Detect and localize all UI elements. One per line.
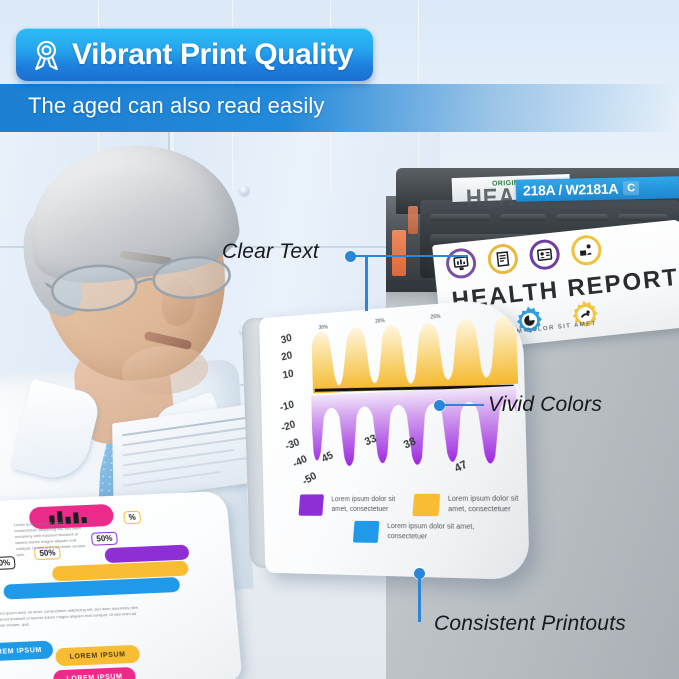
chart-y-tick: -50	[301, 470, 319, 488]
infographic-body-text: Lorem ipsum dolor sit amet, consectetuer…	[0, 605, 143, 629]
health-report-icon-row	[445, 234, 603, 280]
annotation-leader-clear-text	[350, 255, 468, 258]
annotation-vivid-colors: Vivid Colors	[488, 393, 602, 417]
legend-item: Lorem ipsum dolor sit amet, consectetuer…	[299, 493, 519, 516]
header-subtitle: The aged can also read easily	[28, 93, 324, 119]
legend-swatch	[412, 494, 440, 516]
id-card-icon	[528, 238, 561, 271]
percent-badge-callout: %	[123, 511, 141, 525]
cartridge-orange-tab	[392, 230, 406, 276]
chart-printout: 30% 20% 25% 30 20 10 -10 -20 -30 -40 -50	[259, 297, 530, 580]
legend-label: Lorem ipsum dolor sit amet, consectetuer	[387, 522, 481, 544]
infographic-pill: LOREM IPSUM	[53, 667, 137, 679]
chart-y-tick: -10	[279, 399, 295, 414]
cartridge-color-code: C	[623, 181, 639, 195]
infographic-pill: LOREM IPSUM	[55, 645, 141, 667]
legend-label: Lorem ipsum dolor sit amet, consectetuer	[448, 494, 520, 515]
infographic-pill: LOREM IPSUM	[0, 640, 54, 661]
chart-series-upper	[311, 310, 518, 394]
award-rosette-icon	[32, 40, 61, 70]
chart-y-tick: 10	[282, 368, 295, 382]
chart-y-tick: -30	[284, 436, 301, 452]
chart-y-tick: -20	[280, 419, 297, 435]
percent-badge: 50%	[0, 556, 16, 570]
legend-swatch	[353, 521, 380, 543]
cartridge-model-text: 218A / W2181A	[523, 181, 619, 199]
cartridge-orange-tab	[408, 206, 418, 234]
annotation-leader-clear-text-drop	[365, 255, 368, 311]
header-badge: Vibrant Print Quality	[16, 28, 373, 81]
color-infographic-printout: 50% 50% 50% Lorem ipsum dolor sit amet, …	[0, 491, 242, 679]
chart-y-tick: -40	[291, 453, 309, 470]
annotation-leader-vivid-colors	[440, 404, 484, 407]
presentation-icon	[570, 234, 603, 267]
header-badge-title: Vibrant Print Quality	[72, 38, 353, 72]
product-feature-image: HEALTH ORIGINAL 218A / W2181A C HEALTH R…	[0, 0, 679, 679]
legend-label: Lorem ipsum dolor sit amet, consectetuer	[331, 495, 396, 515]
legend-item: Lorem ipsum dolor sit amet, consectetuer	[353, 521, 520, 545]
infographic-bar	[3, 577, 180, 600]
document-report-icon	[486, 243, 519, 276]
percent-badge: 50%	[91, 532, 118, 546]
chart-area: 30% 20% 25% 30 20 10 -10 -20 -30 -40 -50	[279, 313, 510, 474]
annotation-clear-text: Clear Text	[222, 240, 319, 264]
infographic-body-text-secondary: Lorem ipsum dolor sit amet, consectetuer…	[14, 519, 89, 558]
chart-y-tick: 30	[280, 332, 293, 346]
annotation-consistent-printouts: Consistent Printouts	[434, 612, 626, 636]
legend-swatch	[299, 494, 324, 515]
chart-legend: Lorem ipsum dolor sit amet, consectetuer…	[299, 493, 520, 550]
monitor-chart-icon	[445, 247, 478, 280]
chart-y-tick: 20	[280, 349, 293, 363]
cartridge-model-label: 218A / W2181A C	[516, 176, 679, 201]
annotation-leader-consistent-printouts	[418, 574, 421, 622]
